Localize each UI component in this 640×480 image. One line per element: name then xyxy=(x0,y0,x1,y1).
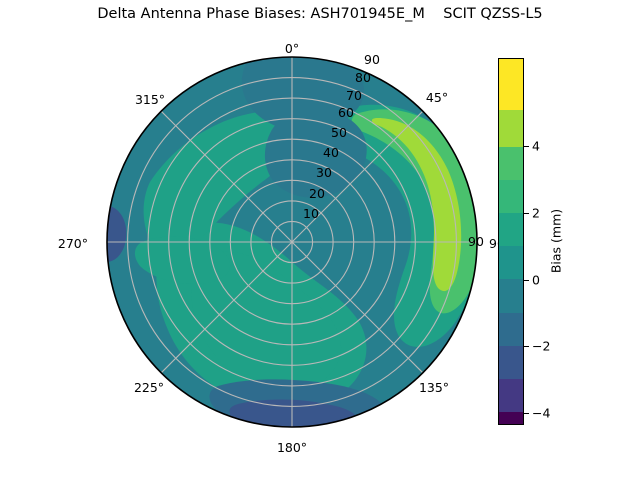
colorbar-axis-label: Bias (mm) xyxy=(549,209,564,273)
page-title: Delta Antenna Phase Biases: ASH701945E_M… xyxy=(0,6,640,22)
colorbar-gradient xyxy=(498,58,524,425)
colorbar-band-9 xyxy=(499,379,523,412)
colorbar-tick-label-2: 0 xyxy=(532,272,540,287)
colorbar-band-2 xyxy=(499,147,523,180)
colorbar-edge-label: 90 xyxy=(468,234,484,249)
polar-grid xyxy=(107,57,477,427)
colorbar-band-7 xyxy=(499,313,523,346)
colorbar-band-10 xyxy=(499,412,523,425)
colorbar-band-8 xyxy=(499,346,523,379)
figure-canvas: Delta Antenna Phase Biases: ASH701945E_M… xyxy=(0,0,640,480)
colorbar-band-4 xyxy=(499,213,523,246)
colorbar-band-1 xyxy=(499,110,523,147)
radial-tick-80: 80 xyxy=(355,70,371,85)
colorbar-tick-label-3: −2 xyxy=(532,339,550,354)
colorbar-tick-mark-4 xyxy=(524,413,529,414)
radial-tick-20: 20 xyxy=(309,186,325,201)
colorbar-tick-mark-1 xyxy=(524,213,529,214)
radial-tick-50: 50 xyxy=(331,125,347,140)
radial-tick-90: 90 xyxy=(364,52,380,67)
contour-band-positive-sw-edge xyxy=(106,332,137,388)
polar-plot[interactable] xyxy=(106,56,478,428)
angular-tick-135: 135° xyxy=(419,380,449,395)
polar-contour-svg xyxy=(106,56,478,428)
colorbar-tick-label-1: 2 xyxy=(532,205,540,220)
colorbar-band-5 xyxy=(499,246,523,279)
angular-tick-270: 270° xyxy=(58,236,88,251)
radial-tick-10: 10 xyxy=(303,206,319,221)
colorbar-band-6 xyxy=(499,279,523,312)
colorbar-band-0 xyxy=(499,59,523,110)
colorbar-tick-label-4: −4 xyxy=(532,406,550,421)
angular-tick-180: 180° xyxy=(277,440,307,455)
radial-tick-60: 60 xyxy=(338,105,354,120)
angular-tick-45: 45° xyxy=(426,90,448,105)
radial-tick-40: 40 xyxy=(323,145,339,160)
angular-tick-225: 225° xyxy=(134,380,164,395)
colorbar-tick-mark-0 xyxy=(524,146,529,147)
angular-tick-315: 315° xyxy=(135,92,165,107)
colorbar-tick-mark-3 xyxy=(524,346,529,347)
radial-tick-30: 30 xyxy=(316,165,332,180)
colorbar-tick-label-0: 4 xyxy=(532,139,540,154)
angular-tick-0: 0° xyxy=(285,41,299,56)
colorbar[interactable]: 420−2−4 xyxy=(498,58,524,425)
colorbar-tick-mark-2 xyxy=(524,280,529,281)
colorbar-band-3 xyxy=(499,180,523,213)
radial-tick-70: 70 xyxy=(346,88,362,103)
